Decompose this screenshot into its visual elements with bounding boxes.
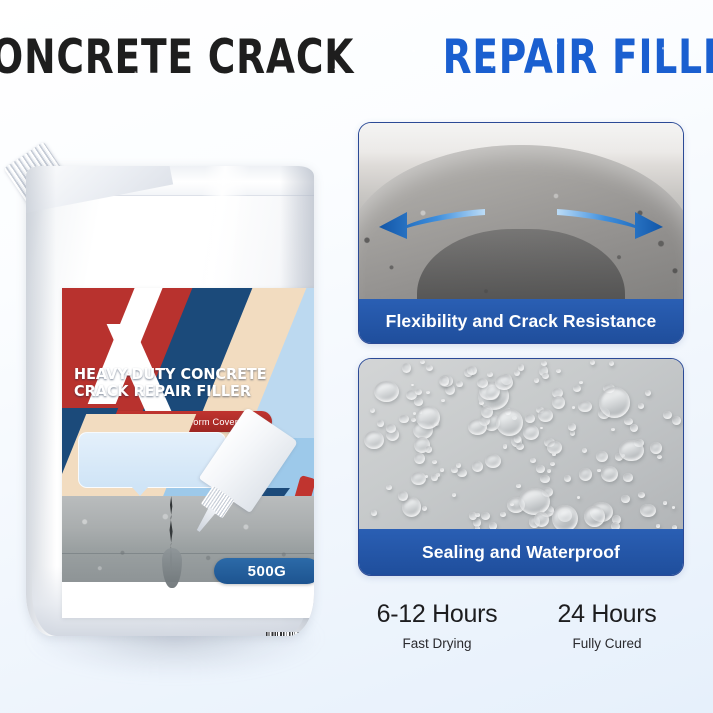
page-title-blue-part: REPAIR FILLER — [443, 34, 713, 81]
water-droplet — [510, 503, 513, 506]
water-droplet — [582, 448, 588, 454]
stat-value-fast-drying: 6-12 Hours — [352, 600, 522, 629]
water-droplet — [572, 406, 575, 409]
water-droplet — [479, 401, 484, 405]
water-droplet — [552, 453, 556, 457]
water-droplet — [609, 361, 615, 367]
water-droplet — [431, 474, 438, 480]
water-droplet — [534, 512, 549, 527]
stat-value-fully-cured: 24 Hours — [522, 600, 692, 629]
water-droplet — [577, 496, 580, 500]
feature-panel-waterproof: Sealing and Waterproof — [358, 358, 684, 576]
stat-fully-cured: 24 Hours Fully Cured — [522, 600, 692, 676]
water-droplet — [638, 492, 645, 498]
water-droplet — [456, 381, 462, 387]
water-droplet — [420, 360, 425, 365]
water-droplet — [536, 465, 545, 474]
water-droplet — [472, 461, 483, 472]
water-droplet — [611, 428, 615, 431]
page-title-dark-part: CONCRETE CRACK — [0, 34, 354, 81]
water-droplet — [402, 363, 411, 373]
stat-label-fast-drying: Fast Drying — [352, 636, 522, 651]
water-droplet — [371, 510, 377, 516]
water-droplet — [542, 373, 549, 379]
water-droplet — [525, 414, 535, 423]
feature-panel-flexibility: Flexibility and Crack Resistance — [358, 122, 684, 344]
stat-label-fully-cured: Fully Cured — [522, 636, 692, 651]
water-droplet — [596, 451, 608, 463]
label-concrete-joint-line — [62, 553, 314, 555]
water-droplet — [426, 365, 433, 371]
water-droplet — [514, 370, 520, 376]
stats-row: 6-12 Hours Fast Drying 24 Hours Fully Cu… — [352, 600, 692, 676]
water-droplet — [538, 409, 553, 422]
water-droplet — [399, 415, 408, 423]
water-droplet — [656, 524, 660, 527]
page-title: CONCRETE CRACK REPAIR FILLER — [0, 26, 713, 88]
water-droplet — [440, 376, 450, 386]
water-droplet — [530, 458, 536, 463]
water-droplet — [672, 416, 681, 425]
water-droplet — [552, 505, 578, 531]
water-droplet — [638, 403, 645, 409]
water-droplet — [552, 396, 565, 409]
water-droplet — [374, 381, 399, 402]
water-droplet — [377, 420, 384, 426]
water-droplet — [432, 460, 437, 464]
water-droplet — [650, 442, 662, 454]
water-droplet — [550, 462, 555, 466]
water-droplet — [414, 398, 423, 406]
water-droplet — [573, 385, 581, 392]
stat-fast-drying: 6-12 Hours Fast Drying — [352, 600, 522, 676]
water-droplet — [503, 444, 508, 449]
water-droplet — [516, 443, 524, 450]
water-droplet — [547, 469, 551, 473]
water-droplet — [540, 427, 543, 430]
arrow-right-icon — [557, 205, 665, 239]
water-droplet — [663, 501, 667, 505]
water-droplet — [579, 381, 583, 384]
water-droplet — [657, 455, 662, 459]
water-droplet — [597, 469, 601, 473]
water-droplet — [456, 463, 461, 468]
water-droplet — [457, 469, 467, 477]
water-droplet — [364, 431, 384, 449]
water-droplet — [496, 409, 524, 436]
water-droplet — [579, 468, 593, 481]
product-label: HEAVY-DUTY CONCRETE CRACK REPAIR FILLER … — [62, 288, 314, 618]
water-droplet — [556, 369, 561, 373]
water-droplet — [440, 468, 444, 472]
pouch-body: HEAVY-DUTY CONCRETE CRACK REPAIR FILLER … — [26, 166, 314, 636]
water-droplet — [452, 493, 456, 497]
water-droplet — [481, 512, 490, 520]
water-droplet — [487, 372, 492, 377]
water-droplet — [540, 475, 550, 484]
water-droplet — [564, 475, 571, 482]
arrow-left-icon — [377, 205, 485, 239]
water-droplet — [477, 378, 488, 388]
size-badge: 500G — [214, 558, 314, 584]
water-droplet — [422, 506, 428, 511]
water-droplet — [590, 360, 595, 365]
water-droplet — [601, 466, 618, 482]
water-droplet — [467, 366, 477, 375]
water-droplet — [411, 384, 414, 387]
water-droplet — [534, 378, 539, 383]
water-droplet — [411, 418, 415, 422]
water-droplet — [386, 485, 392, 491]
water-droplet — [621, 495, 630, 503]
feature-caption-flexibility: Flexibility and Crack Resistance — [359, 299, 683, 343]
water-droplet — [578, 401, 592, 413]
filler-bead-graphic — [162, 548, 182, 588]
label-product-title: HEAVY-DUTY CONCRETE CRACK REPAIR FILLER — [74, 366, 293, 400]
water-droplet — [425, 475, 428, 478]
feature-caption-waterproof: Sealing and Waterproof — [359, 529, 683, 575]
water-droplet — [441, 399, 445, 403]
water-droplet — [426, 391, 430, 395]
barcode — [266, 632, 314, 636]
water-droplet — [398, 491, 408, 501]
water-droplet — [623, 473, 633, 482]
water-droplet — [411, 472, 426, 486]
water-droplet — [500, 512, 506, 518]
water-droplet — [672, 506, 675, 509]
water-droplet — [415, 389, 422, 395]
water-droplet — [630, 424, 638, 432]
water-droplet — [414, 453, 424, 464]
water-droplet — [523, 425, 539, 440]
water-droplet — [468, 419, 488, 435]
water-droplet — [516, 484, 520, 488]
water-droplet — [425, 446, 432, 452]
water-droplet — [475, 513, 479, 517]
water-droplet — [599, 387, 630, 418]
water-droplet — [485, 454, 501, 469]
water-droplet — [495, 375, 513, 390]
water-droplet — [568, 423, 576, 431]
product-image: HEAVY-DUTY CONCRETE CRACK REPAIR FILLER … — [8, 128, 338, 673]
water-droplet — [663, 411, 672, 419]
feature-image-water-droplets — [359, 359, 683, 531]
water-droplet — [619, 440, 644, 462]
water-droplet — [370, 408, 375, 413]
water-droplet — [584, 506, 605, 527]
water-droplet — [416, 406, 440, 429]
water-droplet — [640, 504, 656, 518]
water-droplet — [645, 390, 651, 396]
feature-image-concrete-flex — [359, 123, 683, 301]
